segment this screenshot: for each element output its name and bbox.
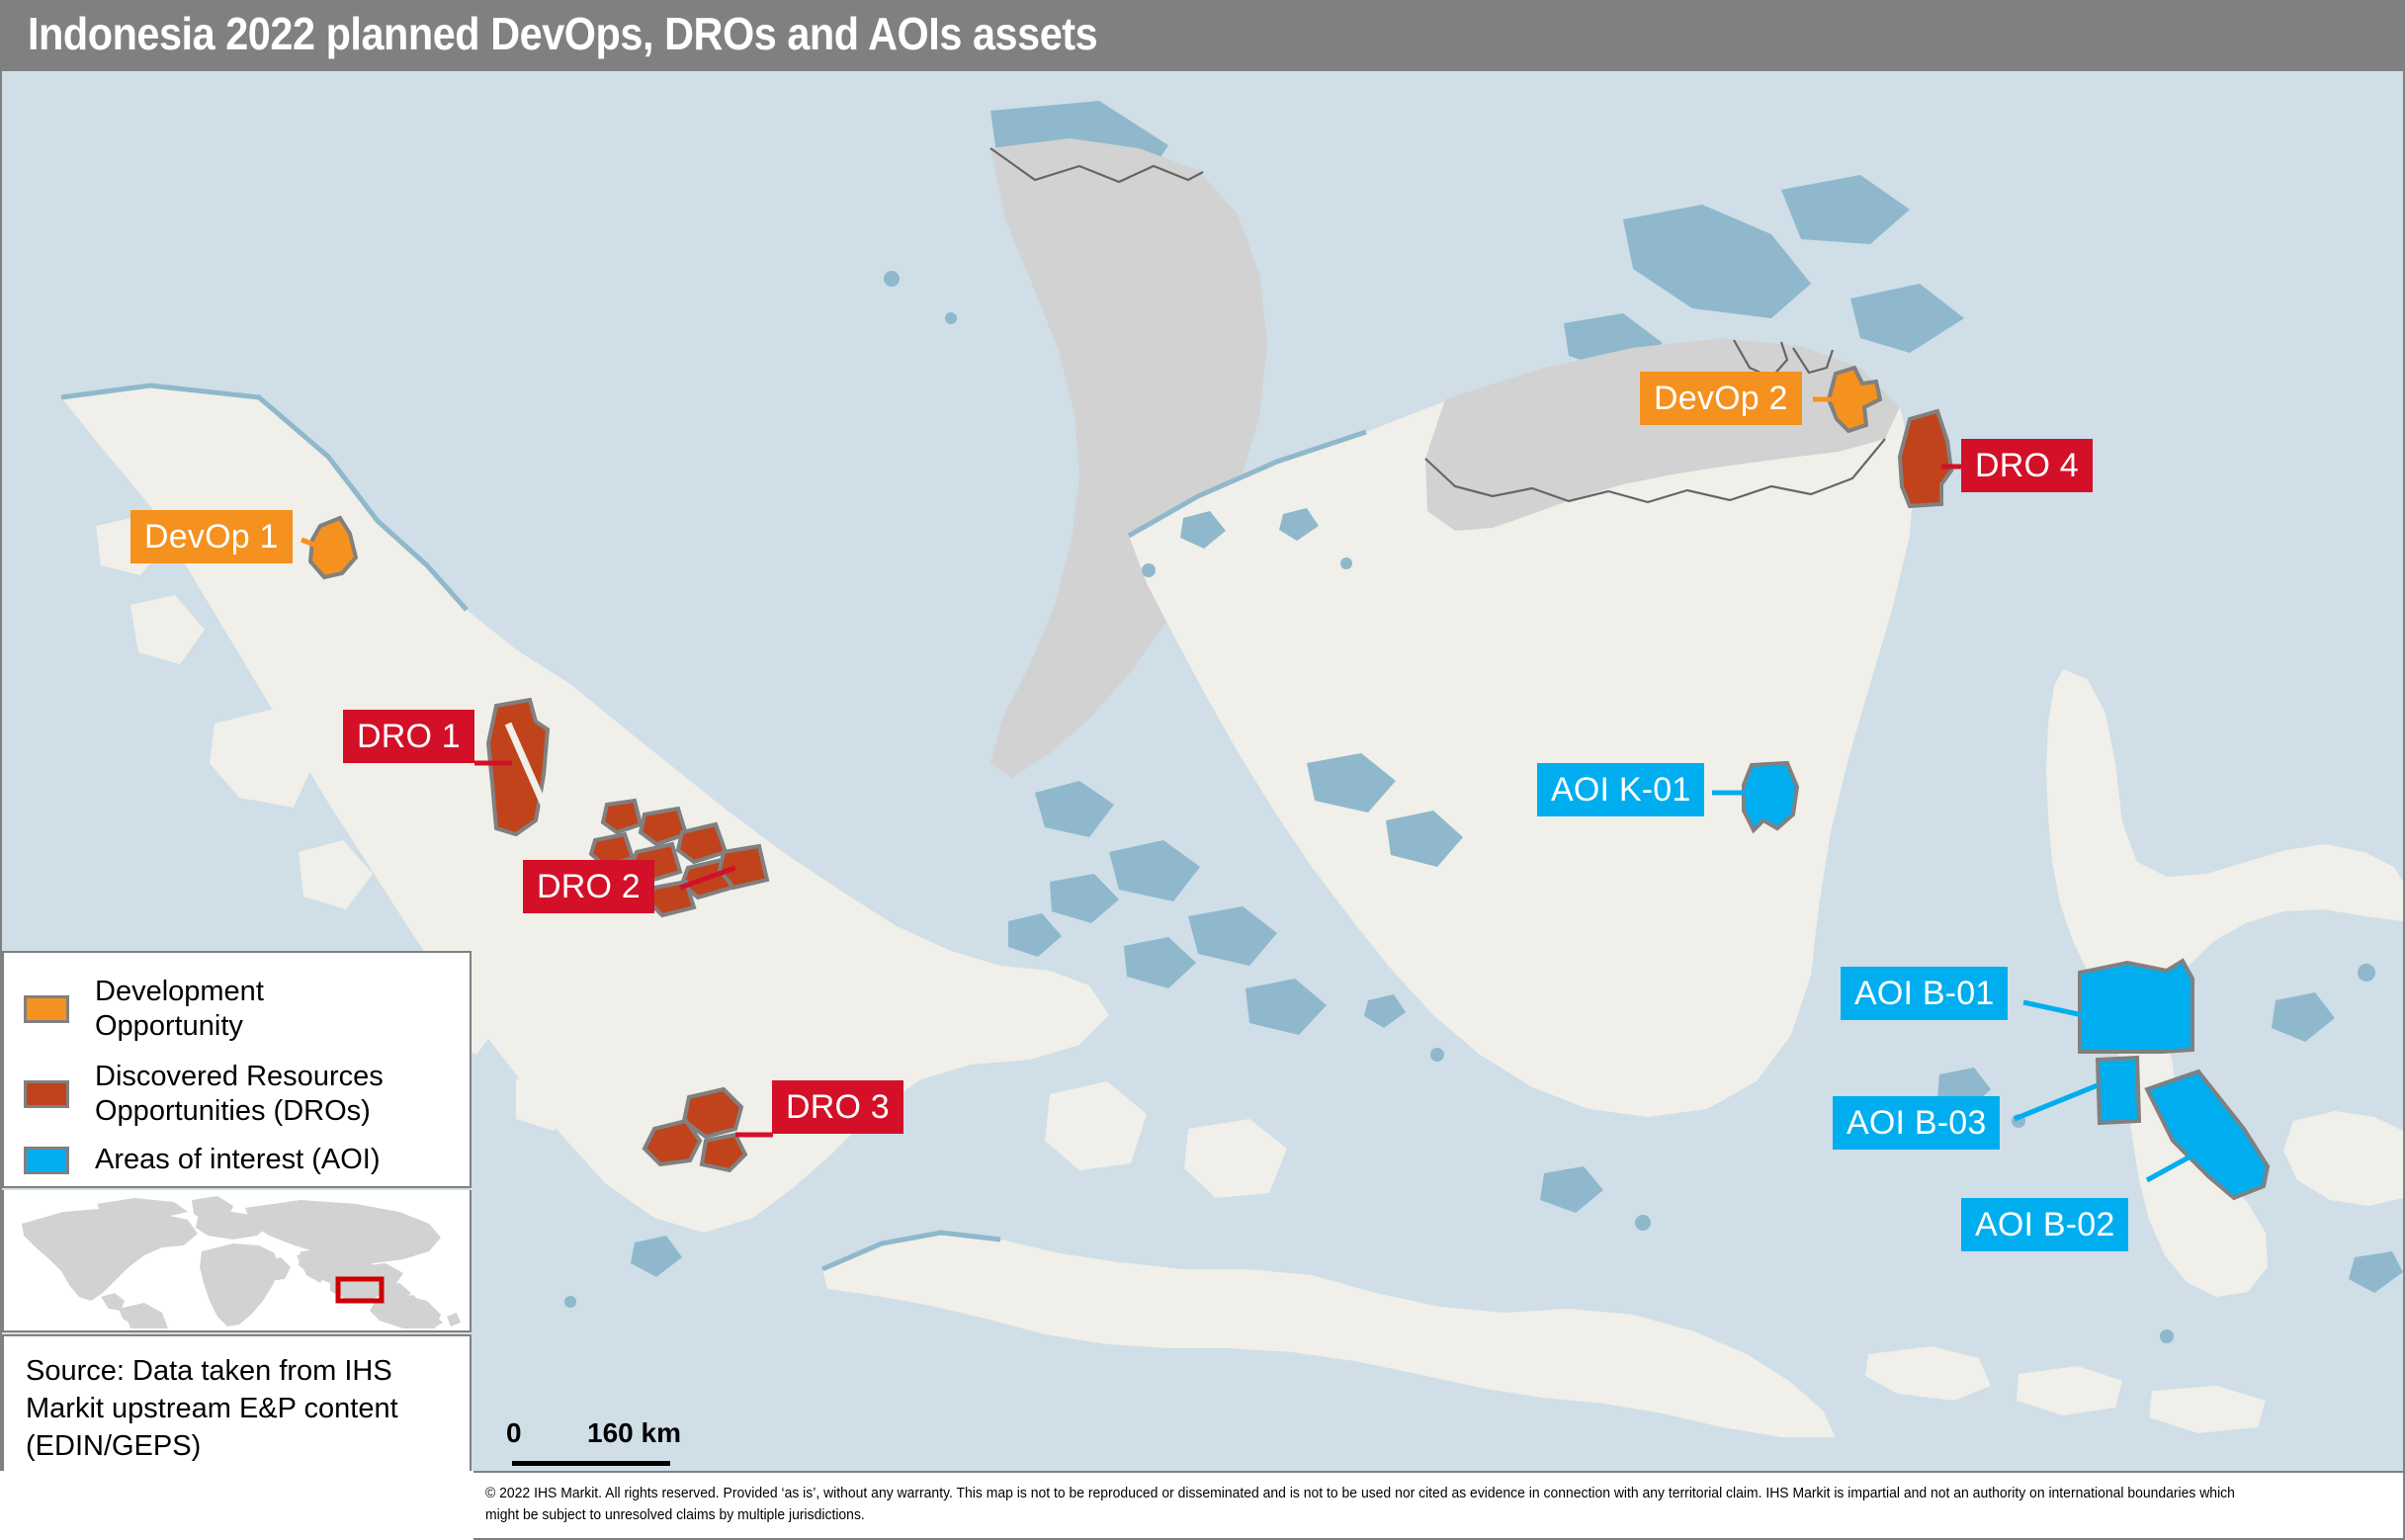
source-text: Source: Data taken from IHS Markit upstr… [26, 1352, 461, 1465]
callout-dro-2[interactable]: DRO 2 [523, 860, 654, 913]
legend-swatch-devop [24, 995, 69, 1023]
legend-label-line1: Development [95, 975, 264, 1009]
legend-label-line2: Opportunities (DROs) [95, 1094, 384, 1129]
asset-polygon-aoi-b-01 [2080, 961, 2192, 1052]
footer-disclaimer-bar: © 2022 IHS Markit. All rights reserved. … [473, 1471, 2405, 1540]
callout-aoi-b-03[interactable]: AOI B-03 [1833, 1096, 2000, 1150]
asset-polygon-aoi-k-01 [1744, 763, 1797, 830]
title-bar: Indonesia 2022 planned DevOps, DROs and … [0, 0, 2405, 71]
callout-label: DRO 2 [537, 860, 641, 913]
callout-label: DRO 3 [786, 1080, 890, 1134]
legend-swatch-dro [24, 1080, 69, 1108]
callout-label: AOI B-03 [1847, 1096, 1986, 1150]
page-title: Indonesia 2022 planned DevOps, DROs and … [28, 7, 1097, 60]
asset-polygon-aoi-b-03 [2098, 1058, 2139, 1123]
callout-dro-1[interactable]: DRO 1 [343, 710, 474, 763]
scale-km-bar [512, 1461, 670, 1466]
map-page: Indonesia 2022 planned DevOps, DROs and … [0, 0, 2405, 1540]
scale-bar: 0 160 km 0 80 mi [506, 1417, 803, 1471]
callout-label: DevOp 2 [1654, 372, 1788, 425]
callout-aoi-k-01[interactable]: AOI K-01 [1537, 763, 1704, 816]
legend-label-line1: Discovered Resources [95, 1060, 384, 1094]
callout-label: DevOp 1 [144, 510, 279, 563]
legend-swatch-aoi [24, 1147, 69, 1174]
callout-devop-2[interactable]: DevOp 2 [1640, 372, 1802, 425]
inset-world-geometry [4, 1190, 470, 1328]
callout-dro-3[interactable]: DRO 3 [772, 1080, 903, 1134]
callout-devop-1[interactable]: DevOp 1 [130, 510, 293, 563]
legend: Development Opportunity Discovered Resou… [2, 951, 472, 1188]
legend-item-discovered-resources[interactable]: Discovered Resources Opportunities (DROs… [24, 1060, 384, 1129]
callout-label: AOI B-02 [1975, 1198, 2114, 1251]
legend-item-development-opportunity[interactable]: Development Opportunity [24, 975, 264, 1044]
scale-km-zero: 0 [506, 1417, 522, 1449]
disclaimer-text: © 2022 IHS Markit. All rights reserved. … [485, 1483, 2260, 1526]
callout-aoi-b-01[interactable]: AOI B-01 [1841, 967, 2008, 1020]
inset-locator-map[interactable] [2, 1190, 472, 1332]
scale-km-value: 160 km [587, 1417, 681, 1449]
callout-dro-4[interactable]: DRO 4 [1961, 439, 2093, 492]
callout-label: AOI K-01 [1551, 763, 1690, 816]
callout-label: DRO 1 [357, 710, 461, 763]
legend-label-line2: Opportunity [95, 1009, 264, 1044]
callout-label: AOI B-01 [1854, 967, 1994, 1020]
callout-aoi-b-02[interactable]: AOI B-02 [1961, 1198, 2128, 1251]
footer-left-spacer [0, 1471, 475, 1540]
callout-label: DRO 4 [1975, 439, 2079, 492]
legend-item-areas-of-interest[interactable]: Areas of interest (AOI) [24, 1143, 381, 1177]
legend-label-line1: Areas of interest (AOI) [95, 1143, 381, 1177]
